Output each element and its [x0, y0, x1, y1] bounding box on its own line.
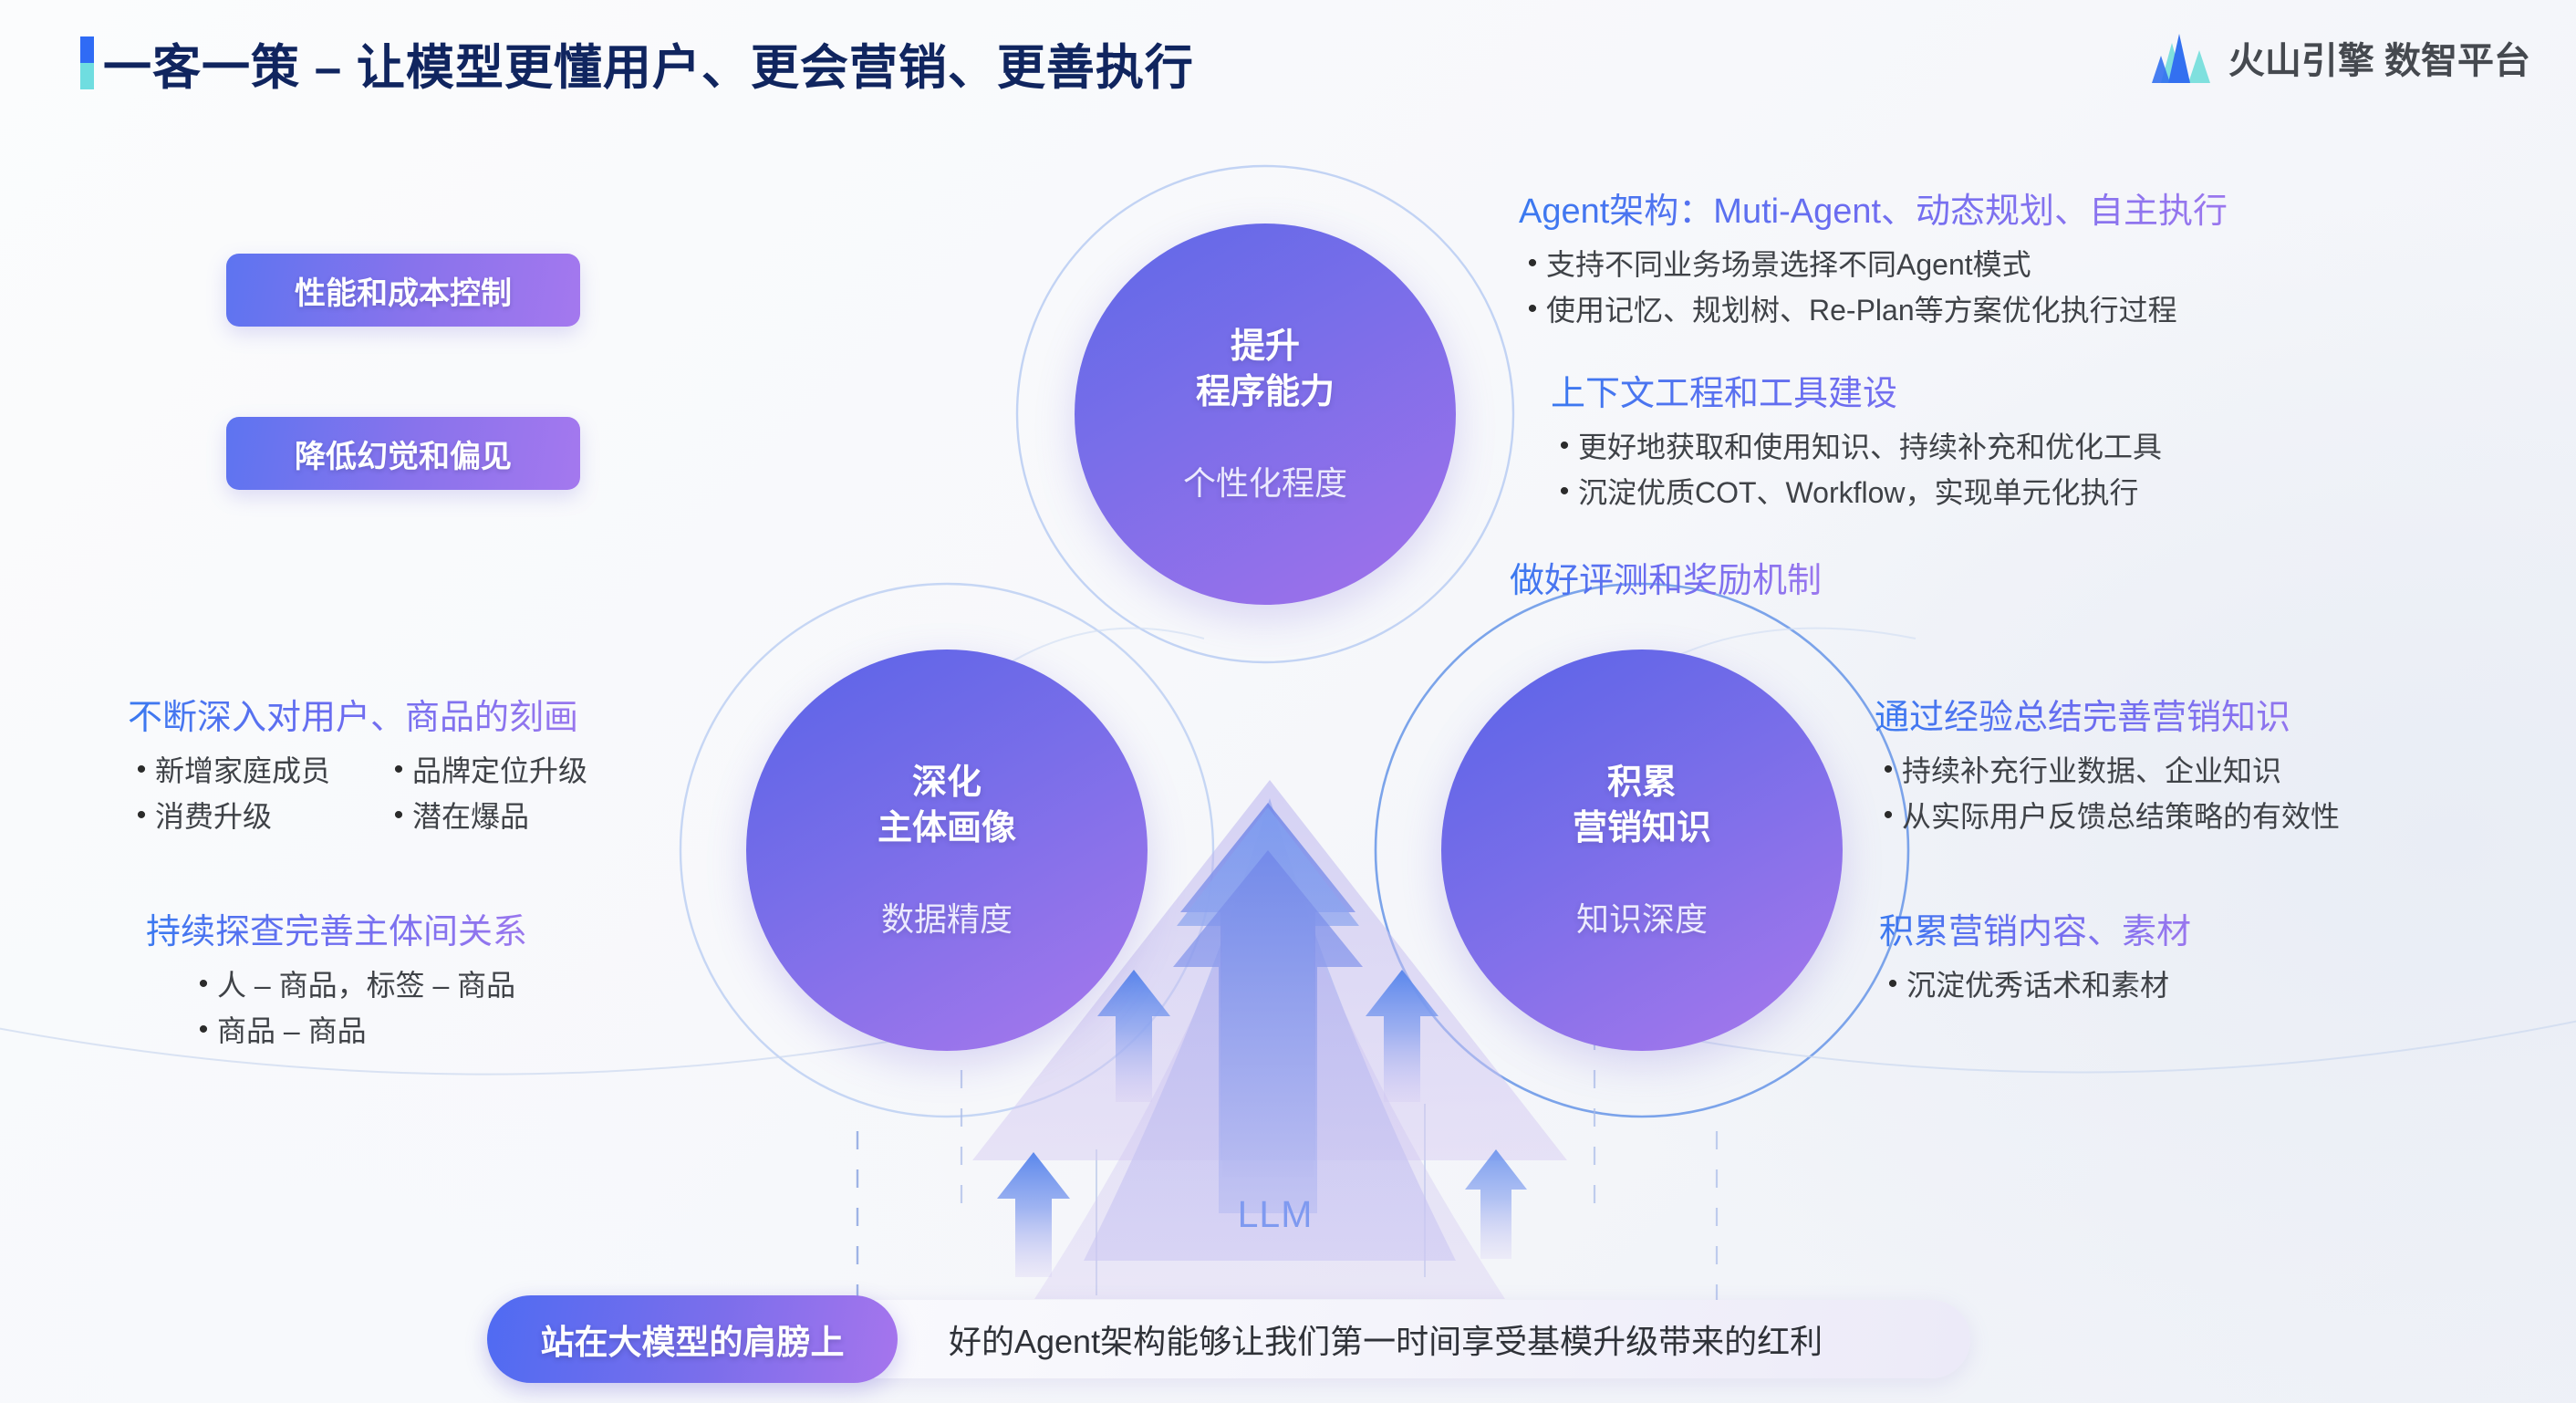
bullet-dot-icon: • [190, 966, 217, 1003]
volcano-mountain-icon [2148, 32, 2210, 83]
bullet-column-2: • 品牌定位升级 • 潜在爆品 [385, 752, 587, 843]
list-item: • 沉淀优质COT、Workflow，实现单元化执行 [1551, 473, 2162, 513]
bullet-dot-icon: • [1551, 428, 1578, 465]
bottom-banner: 站在大模型的肩膀上 好的Agent架构能够让我们第一时间享受基模升级带来的红利 [493, 1300, 1970, 1378]
bullet-dot-icon: • [1879, 966, 1906, 1003]
list-item: • 使用记忆、规划树、Re-Plan等方案优化执行过程 [1519, 291, 2228, 330]
circle-right-metric: 知识深度 [1576, 893, 1708, 941]
bullet-dot-icon: • [1875, 797, 1902, 835]
bullet-dot-icon: • [1551, 473, 1578, 511]
brand-name: 火山引擎 数智平台 [2228, 31, 2530, 84]
text-block-entity-relations: 持续探查完善主体间关系 • 人 – 商品，标签 – 商品 • 商品 – 商品 [146, 903, 527, 1057]
bullet-dot-icon: • [1519, 245, 1546, 283]
badge-hallucination-bias[interactable]: 降低幻觉和偏见 [226, 417, 580, 490]
banner-text: 好的Agent架构能够让我们第一时间享受基模升级带来的红利 [949, 1300, 1823, 1378]
bullet-dot-icon: • [1519, 291, 1546, 328]
heading-agent-architecture: Agent架构：Muti-Agent、动态规划、自主执行 [1519, 182, 2228, 233]
banner-pill-badge[interactable]: 站在大模型的肩膀上 [487, 1295, 898, 1383]
text-block-marketing-material: 积累营销内容、素材 • 沉淀优秀话术和素材 [1879, 903, 2191, 1012]
bullet-dot-icon: • [1875, 752, 1902, 789]
list-item: • 品牌定位升级 [385, 752, 587, 791]
bullet-list-knowledge: • 持续补充行业数据、企业知识 • 从实际用户反馈总结策略的有效性 [1875, 752, 2340, 837]
circle-right-title: 积累 营销知识 [1573, 760, 1711, 851]
text-block-context-engineering: 上下文工程和工具建设 • 更好地获取和使用知识、持续补充和优化工具 • 沉淀优质… [1551, 365, 2162, 519]
list-item: • 沉淀优秀话术和素材 [1879, 966, 2191, 1005]
circle-node-program-capability[interactable]: 提升 程序能力 个性化程度 [1075, 223, 1456, 605]
llm-foundation-label: LLM [1193, 1193, 1357, 1236]
circle-node-entity-portrait[interactable]: 深化 主体画像 数据精度 [746, 650, 1148, 1051]
heading-entity-relations: 持续探查完善主体间关系 [146, 903, 527, 953]
bullet-dot-icon: • [128, 752, 155, 789]
heading-marketing-knowledge: 通过经验总结完善营销知识 [1875, 689, 2340, 739]
bullet-dot-icon: • [190, 1012, 217, 1049]
bullet-dot-icon: • [385, 752, 412, 789]
heading-user-product-portrait: 不断深入对用户、商品的刻画 [128, 689, 587, 739]
side-arrow-left-outer [997, 1152, 1070, 1277]
circle-top-title: 提升 程序能力 [1196, 324, 1335, 415]
heading-context-engineering: 上下文工程和工具建设 [1551, 365, 2162, 415]
bullet-column-1: • 新增家庭成员 • 消费升级 [128, 752, 330, 843]
circle-node-marketing-knowledge[interactable]: 积累 营销知识 知识深度 [1441, 650, 1843, 1051]
text-block-evaluation-reward: 做好评测和奖励机制 [1510, 552, 1822, 602]
circle-top-metric: 个性化程度 [1183, 457, 1347, 504]
list-item: • 支持不同业务场景选择不同Agent模式 [1519, 245, 2228, 285]
bullet-list-material: • 沉淀优秀话术和素材 [1879, 966, 2191, 1005]
circle-left-title: 深化 主体画像 [878, 760, 1016, 851]
heading-marketing-material: 积累营销内容、素材 [1879, 903, 2191, 953]
bullet-dot-icon: • [385, 797, 412, 835]
list-item: • 人 – 商品，标签 – 商品 [190, 966, 527, 1005]
text-block-marketing-knowledge: 通过经验总结完善营销知识 • 持续补充行业数据、企业知识 • 从实际用户反馈总结… [1875, 689, 2340, 843]
page-header: 一客一策 – 让模型更懂用户、更会营销、更善执行 火山引擎 数智平台 [0, 0, 2576, 108]
badge-performance-cost[interactable]: 性能和成本控制 [226, 254, 580, 327]
list-item: • 消费升级 [128, 797, 330, 837]
list-item: • 持续补充行业数据、企业知识 [1875, 752, 2340, 791]
list-item: • 从实际用户反馈总结策略的有效性 [1875, 797, 2340, 837]
arc-right-sweep [1642, 1013, 2576, 1072]
bullet-list-context: • 更好地获取和使用知识、持续补充和优化工具 • 沉淀优质COT、Workflo… [1551, 428, 2162, 513]
text-block-user-product-portrait: 不断深入对用户、商品的刻画 • 新增家庭成员 • 消费升级 • 品牌定位升级 •… [128, 689, 587, 843]
title-accent-bar [80, 36, 94, 89]
bullet-list-portrait: • 新增家庭成员 • 消费升级 • 品牌定位升级 • 潜在爆品 [128, 752, 587, 843]
side-arrow-right-outer [1465, 1149, 1527, 1259]
list-item: • 商品 – 商品 [190, 1012, 527, 1051]
bullet-list-relation: • 人 – 商品，标签 – 商品 • 商品 – 商品 [190, 966, 527, 1051]
heading-evaluation-reward: 做好评测和奖励机制 [1510, 552, 1822, 602]
list-item: • 潜在爆品 [385, 797, 587, 837]
bullet-list-agent: • 支持不同业务场景选择不同Agent模式 • 使用记忆、规划树、Re-Plan… [1519, 245, 2228, 330]
bullet-dot-icon: • [128, 797, 155, 835]
list-item: • 更好地获取和使用知识、持续补充和优化工具 [1551, 428, 2162, 467]
list-item: • 新增家庭成员 [128, 752, 330, 791]
brand-lockup: 火山引擎 数智平台 [2148, 31, 2530, 84]
text-block-agent-architecture: Agent架构：Muti-Agent、动态规划、自主执行 • 支持不同业务场景选… [1519, 182, 2228, 337]
page-title: 一客一策 – 让模型更懂用户、更会营销、更善执行 [103, 29, 1194, 99]
circle-left-metric: 数据精度 [881, 893, 1013, 941]
